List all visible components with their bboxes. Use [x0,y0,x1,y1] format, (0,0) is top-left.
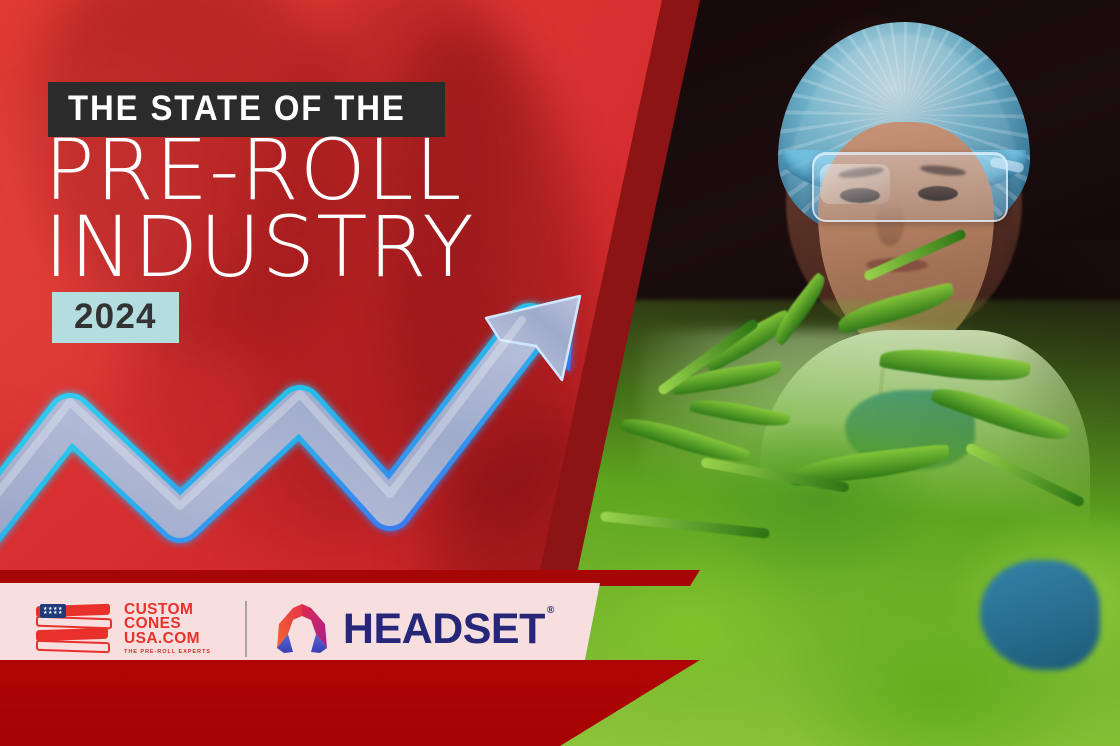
custom-cones-wordmark: CUSTOM CONES USA.COM THE PRE-ROLL EXPERT… [124,603,211,656]
headset-wordmark: HEADSET ® [343,608,545,651]
cc-tagline: THE PRE-ROLL EXPERTS [124,649,211,655]
poster-canvas: ★★★★★★★★ CUSTOM CONES USA.COM THE PRE-RO… [0,0,1120,746]
custom-cones-usa-logo[interactable]: ★★★★★★★★ CUSTOM CONES USA.COM THE PRE-RO… [36,603,211,656]
headline-line-2: INDUSTRY [44,209,475,286]
logo-divider [245,601,247,657]
usa-flag-cones-icon: ★★★★★★★★ [36,603,114,655]
flag-stripe [36,640,110,654]
flag-stars: ★★★★★★★★ [43,607,63,615]
cc-line-3: USA.COM [124,632,211,647]
page-title: PRE-ROLL INDUSTRY [44,132,475,287]
registered-trademark-icon: ® [547,606,554,616]
year-badge-text: 2024 [74,299,157,334]
headset-wordmark-text: HEADSET [343,605,545,653]
year-badge: 2024 [52,292,179,343]
headset-logo[interactable]: HEADSET ® [273,600,545,659]
photo-blue-glove-lower [980,560,1100,670]
headset-arch-icon [273,600,331,659]
flag-canton: ★★★★★★★★ [40,604,66,618]
photo-safety-goggles [812,152,1008,222]
